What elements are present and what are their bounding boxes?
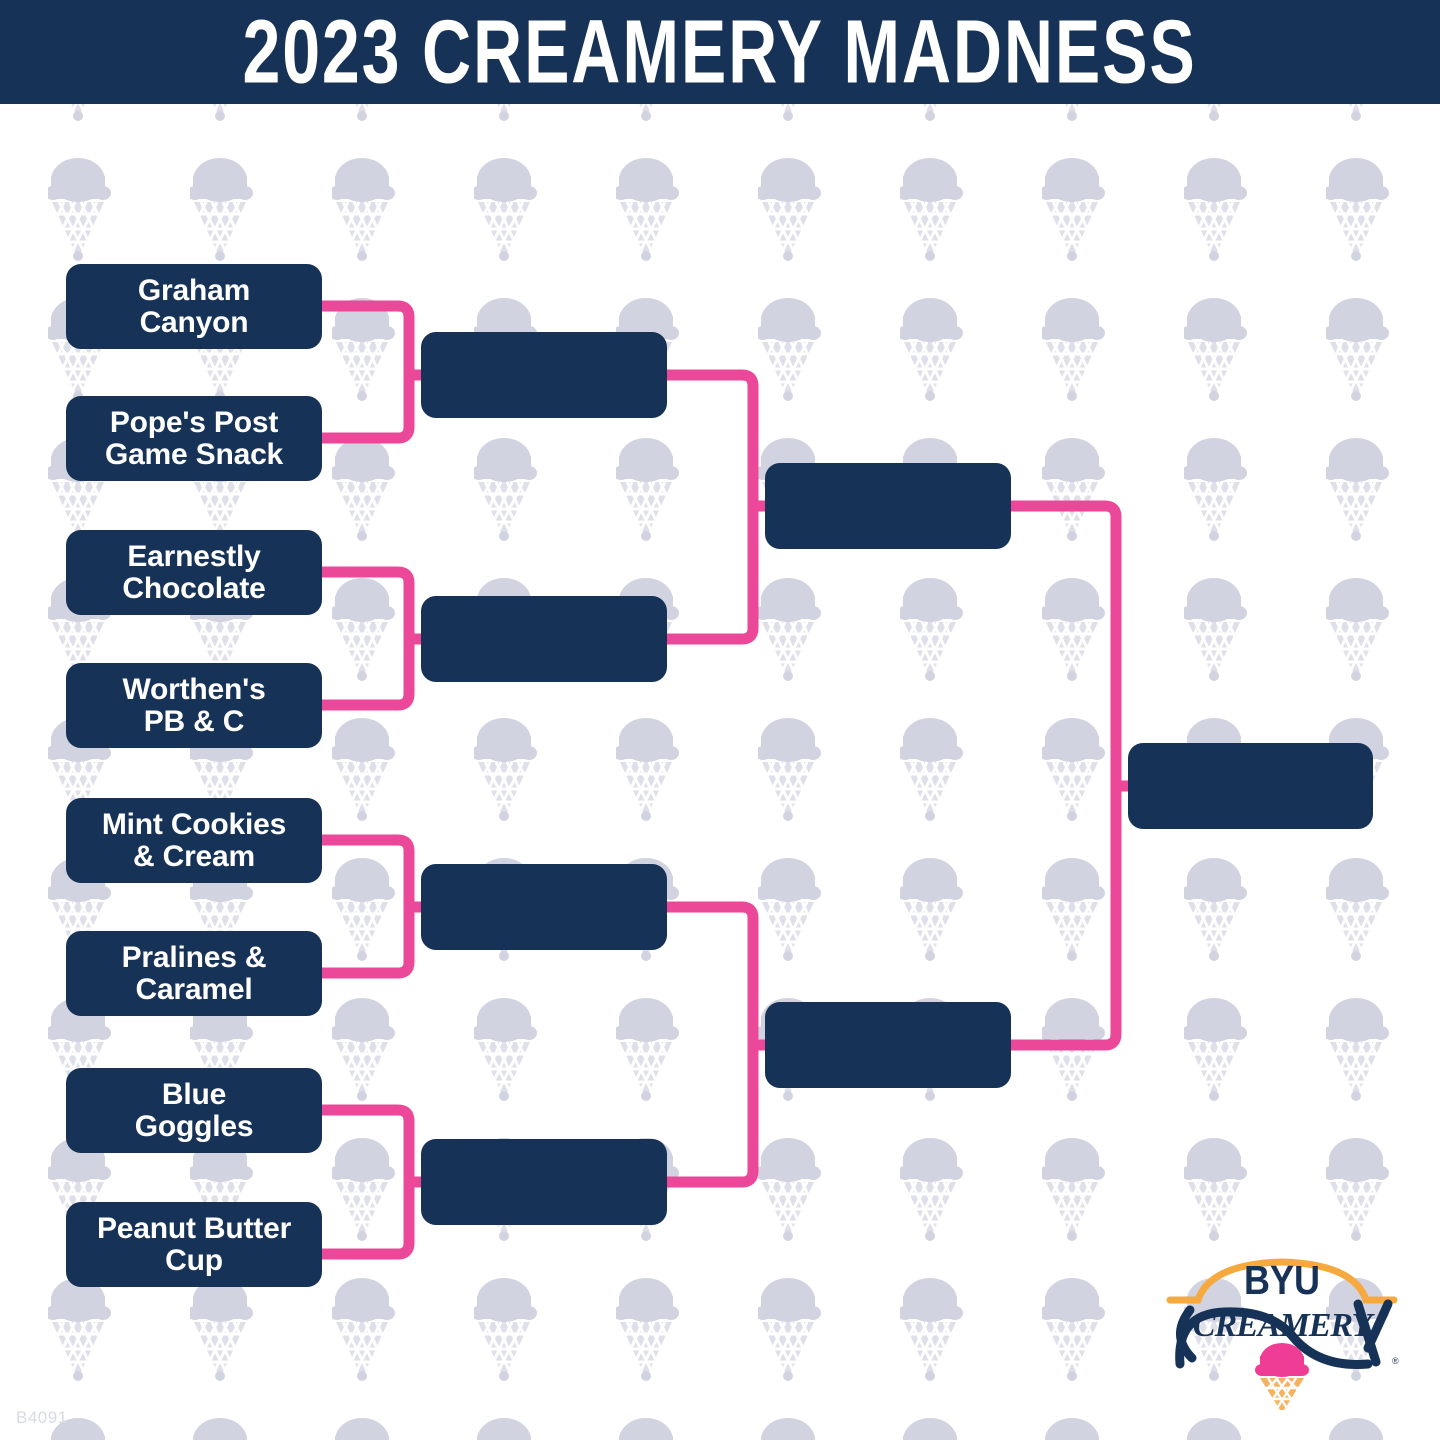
bracket-slot-label: Worthen's PB & C xyxy=(112,674,275,738)
bracket-poster: 2023 CREAMERY MADNESS xyxy=(0,0,1440,1440)
bracket-slot-label: Graham Canyon xyxy=(128,275,260,339)
bracket-slot-label: Pralines & Caramel xyxy=(112,942,277,1006)
bracket-slot-r1-2[interactable]: Pope's Post Game Snack xyxy=(66,396,322,481)
bracket-slot-r1-4[interactable]: Worthen's PB & C xyxy=(66,663,322,748)
bracket-slot-r2-4[interactable] xyxy=(421,1139,667,1225)
bracket-slot-r2-1[interactable] xyxy=(421,332,667,418)
bracket-slot-label: Peanut Butter Cup xyxy=(87,1213,301,1277)
bracket-slot-label: Pope's Post Game Snack xyxy=(95,407,293,471)
bracket-slot-r2-3[interactable] xyxy=(421,864,667,950)
bracket-slot-r1-5[interactable]: Mint Cookies & Cream xyxy=(66,798,322,883)
bracket-slot-r2-2[interactable] xyxy=(421,596,667,682)
bracket-slot-r3-2[interactable] xyxy=(765,1002,1011,1088)
logo-registered-mark: ® xyxy=(1392,1356,1399,1366)
logo-creamery-text: CREAMERY xyxy=(1193,1307,1376,1344)
bracket-slot-r1-8[interactable]: Peanut Butter Cup xyxy=(66,1202,322,1287)
bracket-slot-r1-6[interactable]: Pralines & Caramel xyxy=(66,931,322,1016)
bracket-slot-championship[interactable] xyxy=(1128,743,1373,829)
bracket: Graham Canyon Pope's Post Game Snack Ear… xyxy=(0,0,1440,1440)
byu-creamery-logo: BYU CREAMERY ® xyxy=(1162,1252,1402,1412)
watermark: B4091 xyxy=(16,1408,68,1428)
bracket-slot-label: Earnestly Chocolate xyxy=(112,541,275,605)
bracket-slot-r3-1[interactable] xyxy=(765,463,1011,549)
bracket-slot-label: Mint Cookies & Cream xyxy=(92,809,296,873)
bracket-slot-label: Blue Goggles xyxy=(125,1079,264,1143)
bracket-slot-r1-3[interactable]: Earnestly Chocolate xyxy=(66,530,322,615)
logo-byu-text: BYU xyxy=(1244,1258,1320,1303)
bracket-slot-r1-7[interactable]: Blue Goggles xyxy=(66,1068,322,1153)
bracket-slot-r1-1[interactable]: Graham Canyon xyxy=(66,264,322,349)
logo-ice-cream-cone-icon xyxy=(1255,1343,1309,1410)
